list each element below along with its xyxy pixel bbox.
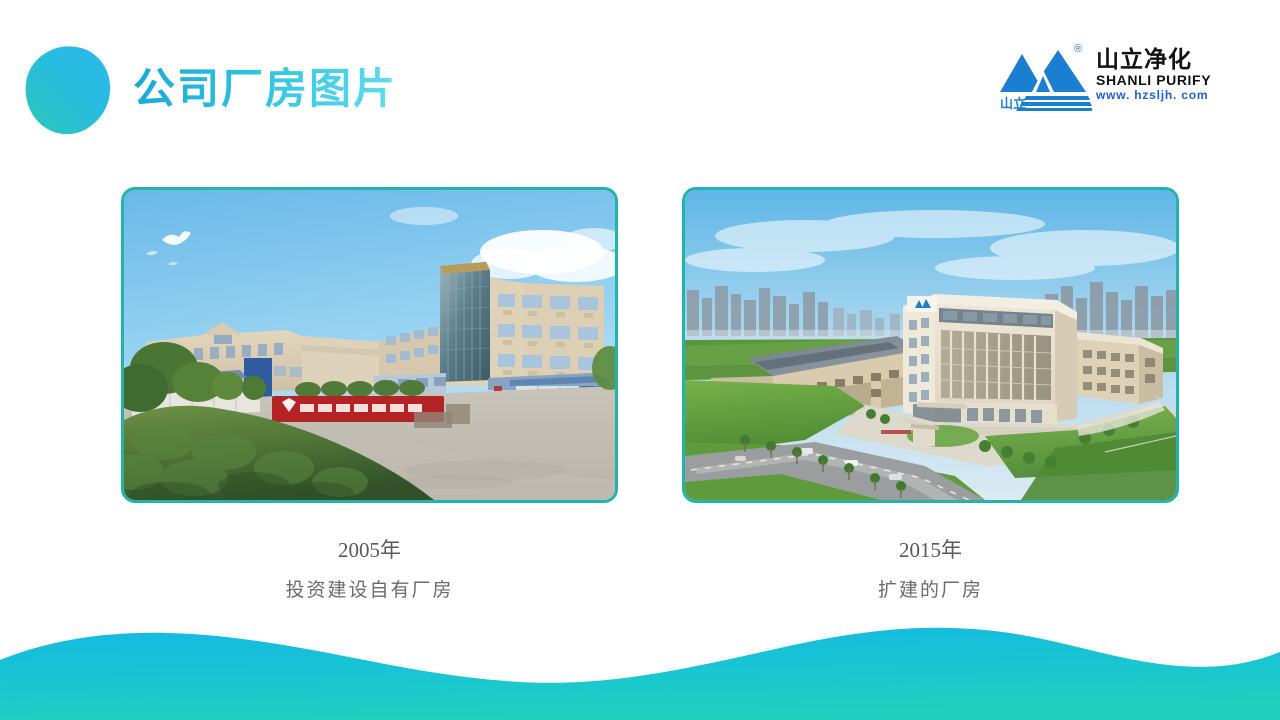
photo-2005-year: 2005年 [121, 536, 618, 564]
logo-website: www. hzsljh. com [1096, 88, 1220, 103]
svg-text:®: ® [1074, 43, 1082, 55]
factory-photo-2015-image [685, 190, 1176, 500]
photo-2015-year: 2015年 [682, 536, 1179, 564]
shanli-mountain-icon: 山立 ® [1000, 40, 1092, 112]
factory-photo-2005[interactable] [121, 187, 618, 503]
logo-company-cn: 山立净化 [1096, 46, 1220, 72]
logo-company-en: SHANLI PURIFY [1096, 72, 1220, 88]
factory-photo-2015[interactable] [682, 187, 1179, 503]
slide-canvas: 公司厂房图片 山立 ® 山立净化 SHANLI PURIFY www. hzsl… [0, 0, 1280, 720]
page-title: 公司厂房图片 [133, 62, 397, 116]
svg-text:山立: 山立 [1000, 96, 1026, 111]
factory-photo-2005-image [124, 190, 615, 500]
logo-text-block: 山立净化 SHANLI PURIFY www. hzsljh. com [1096, 46, 1220, 103]
company-logo: 山立 ® 山立净化 SHANLI PURIFY www. hzsljh. com [1000, 38, 1218, 116]
decorative-blob-icon [24, 46, 112, 136]
bottom-wave-decoration [0, 590, 1280, 720]
